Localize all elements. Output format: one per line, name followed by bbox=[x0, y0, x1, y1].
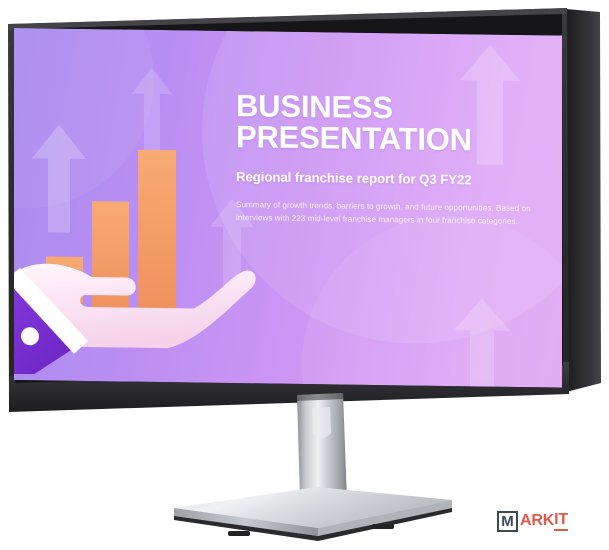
slide-text-block: BUSINESS PRESENTATION Regional franchise… bbox=[236, 91, 554, 229]
bar-3 bbox=[138, 150, 176, 321]
monitor-base bbox=[174, 487, 452, 541]
monitor-side-thickness bbox=[566, 9, 601, 392]
slide-subtitle: Regional franchise report for Q3 FY22 bbox=[236, 169, 554, 188]
slide-title: BUSINESS PRESENTATION bbox=[236, 91, 554, 157]
hand-holding-bar-chart-illustration bbox=[14, 124, 258, 377]
bar-2 bbox=[92, 201, 129, 320]
presentation-slide[interactable]: BUSINESS PRESENTATION Regional franchise… bbox=[14, 28, 562, 388]
screenshot-stage: DELL bbox=[0, 0, 609, 550]
base-foot-right bbox=[372, 524, 394, 529]
slide-body-text: Summary of growth trends, barriers to gr… bbox=[236, 198, 536, 228]
cable-slot bbox=[312, 407, 331, 438]
watermark-boxed-letter: M bbox=[497, 511, 518, 532]
slide-title-line-2: PRESENTATION bbox=[236, 122, 554, 157]
base-foot-left bbox=[228, 531, 250, 536]
watermark-text-part2: IT bbox=[554, 511, 568, 531]
monitor-stand-neck: DELL bbox=[297, 393, 347, 500]
watermark-text-part1: ARK bbox=[520, 512, 554, 530]
watermark: M ARK IT bbox=[497, 508, 585, 534]
